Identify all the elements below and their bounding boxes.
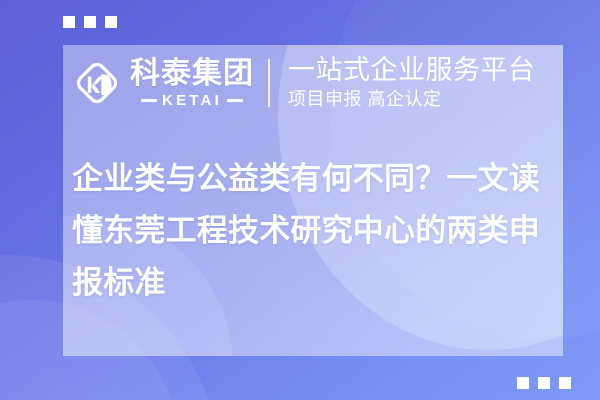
square-dot-icon xyxy=(559,377,571,389)
brand-name-en: KETAI xyxy=(162,93,222,108)
ketai-diamond-monogram-icon xyxy=(70,56,124,110)
content-panel: 科泰集团 KETAI 一站式企业服务平台 项目申报 高企认定 企业类与公益类有何… xyxy=(63,45,563,356)
square-dot-icon xyxy=(517,377,529,389)
brand-name-en-row: KETAI xyxy=(130,93,254,108)
tagline-main: 一站式企业服务平台 xyxy=(288,56,536,85)
square-dot-icon xyxy=(84,16,96,28)
article-title: 企业类与公益类有何不同？一文读懂东莞工程技术研究中心的两类申报标准 xyxy=(72,153,563,309)
brand-rule-left-icon xyxy=(141,99,157,102)
brand-lockup[interactable]: 科泰集团 KETAI xyxy=(70,56,254,110)
tagline-sub: 项目申报 高企认定 xyxy=(288,88,536,111)
brand-tagline-divider xyxy=(268,59,270,107)
decorative-dots-bottom-right xyxy=(517,377,571,389)
decorative-dots-top-left xyxy=(63,16,117,28)
square-dot-icon xyxy=(105,16,117,28)
brand-rule-right-icon xyxy=(227,99,243,102)
banner-header: 科泰集团 KETAI 一站式企业服务平台 项目申报 高企认定 xyxy=(63,45,563,121)
banner-canvas: 科泰集团 KETAI 一站式企业服务平台 项目申报 高企认定 企业类与公益类有何… xyxy=(0,0,600,400)
tagline-block: 一站式企业服务平台 项目申报 高企认定 xyxy=(288,56,536,111)
square-dot-icon xyxy=(63,16,75,28)
brand-wordmark: 科泰集团 KETAI xyxy=(130,59,254,108)
square-dot-icon xyxy=(538,377,550,389)
brand-name-cn: 科泰集团 xyxy=(130,59,254,89)
